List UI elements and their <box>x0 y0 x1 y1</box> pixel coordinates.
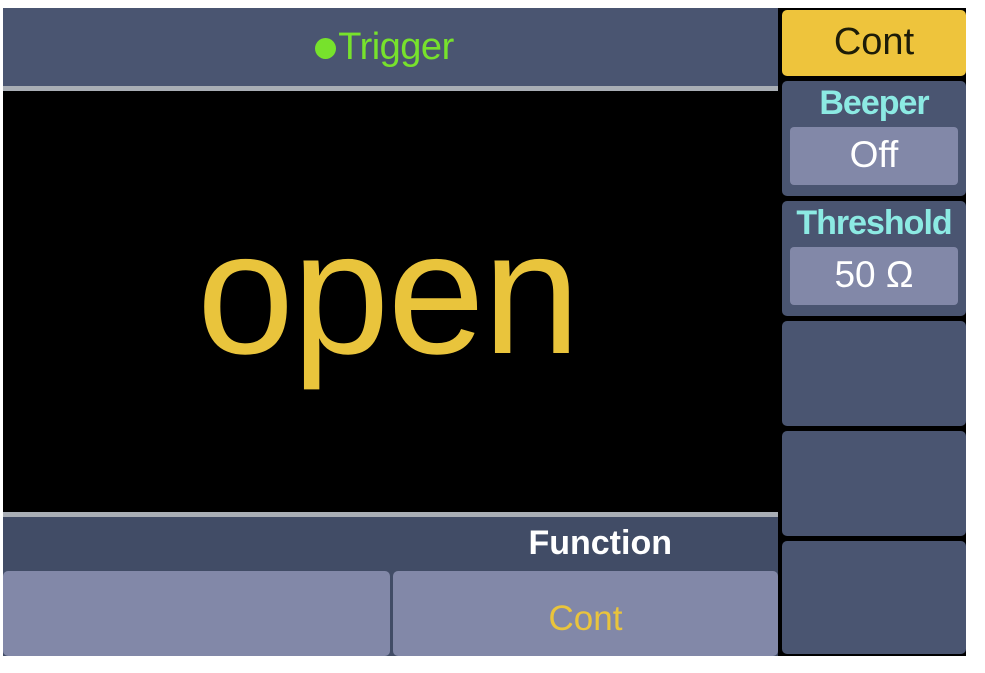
trigger-label: Trigger <box>338 28 453 66</box>
bottom-strip-cells: Cont <box>3 571 778 656</box>
softkey-beeper-title: Beeper <box>782 85 966 122</box>
function-header-label: Function <box>528 523 672 564</box>
primary-reading-value: open <box>197 206 578 381</box>
softkey-cont-label: Cont <box>834 23 914 61</box>
softkey-blank-3[interactable] <box>782 541 966 654</box>
trigger-indicator: Trigger <box>315 28 453 66</box>
softkey-cont[interactable]: Cont <box>782 10 966 76</box>
trigger-dot-icon <box>315 38 336 59</box>
softkey-column: Cont Beeper Off Threshold 50 Ω <box>782 8 966 656</box>
softkey-blank-2[interactable] <box>782 431 966 536</box>
bottom-strip-header: Function <box>3 517 778 571</box>
display-column: Trigger open Function Cont <box>3 8 778 656</box>
softkey-threshold-value: 50 Ω <box>834 256 913 293</box>
bottom-info-strip: Function Cont <box>3 517 778 656</box>
bottom-cell-blank[interactable] <box>3 571 390 656</box>
softkey-beeper-value: Off <box>850 136 899 173</box>
instrument-screen: Trigger open Function Cont <box>3 8 966 656</box>
bottom-cell-function[interactable]: Cont <box>393 571 778 656</box>
softkey-beeper-value-box[interactable]: Off <box>790 127 958 185</box>
softkey-threshold-title: Threshold <box>782 205 966 242</box>
softkey-blank-1[interactable] <box>782 321 966 426</box>
bottom-cell-function-value: Cont <box>549 601 623 636</box>
softkey-threshold-value-box[interactable]: 50 Ω <box>790 247 958 305</box>
status-bar: Trigger <box>3 8 778 86</box>
softkey-beeper[interactable]: Beeper Off <box>782 81 966 196</box>
primary-reading-area: open <box>3 91 778 512</box>
softkey-threshold[interactable]: Threshold 50 Ω <box>782 201 966 316</box>
